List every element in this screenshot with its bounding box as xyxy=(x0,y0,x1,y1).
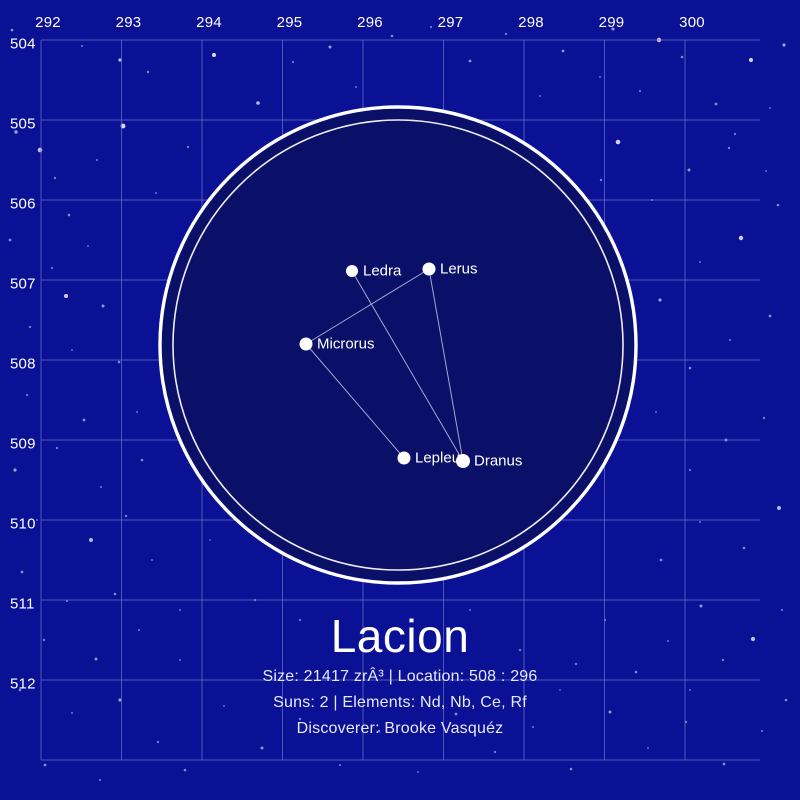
x-axis-label-294: 294 xyxy=(196,14,222,31)
system-info-line-2: Suns: 2 | Elements: Nd, Nb, Ce, Rf xyxy=(0,694,800,712)
y-axis-label-504: 504 xyxy=(10,36,36,53)
region-disc xyxy=(160,107,636,583)
x-axis-label-292: 292 xyxy=(35,14,61,31)
x-axis-label-293: 293 xyxy=(116,14,142,31)
y-axis-label-510: 510 xyxy=(10,516,36,533)
y-axis-label-505: 505 xyxy=(10,116,36,133)
star-map: 292293294295296297298299300 504505506507… xyxy=(0,0,800,800)
system-info-line-1: Size: 21417 zrÂ³ | Location: 508 : 296 xyxy=(0,668,800,686)
star-label-ledra: Ledra xyxy=(363,263,401,280)
y-axis-label-508: 508 xyxy=(10,356,36,373)
star-label-dranus: Dranus xyxy=(474,453,522,470)
star-label-lerus: Lerus xyxy=(440,261,478,278)
y-axis-label-507: 507 xyxy=(10,276,36,293)
y-axis-label-506: 506 xyxy=(10,196,36,213)
x-axis-label-300: 300 xyxy=(679,14,705,31)
system-title: Lacion xyxy=(0,609,800,663)
x-axis-label-296: 296 xyxy=(357,14,383,31)
x-axis-label-295: 295 xyxy=(277,14,303,31)
x-axis-label-298: 298 xyxy=(518,14,544,31)
x-axis-label-297: 297 xyxy=(438,14,464,31)
star-label-microrus: Microrus xyxy=(317,336,375,353)
star-label-lepleus: Lepleus xyxy=(415,450,468,467)
system-info-line-3: Discoverer: Brooke Vasquéz xyxy=(0,720,800,738)
y-axis-label-509: 509 xyxy=(10,436,36,453)
x-axis-label-299: 299 xyxy=(599,14,625,31)
